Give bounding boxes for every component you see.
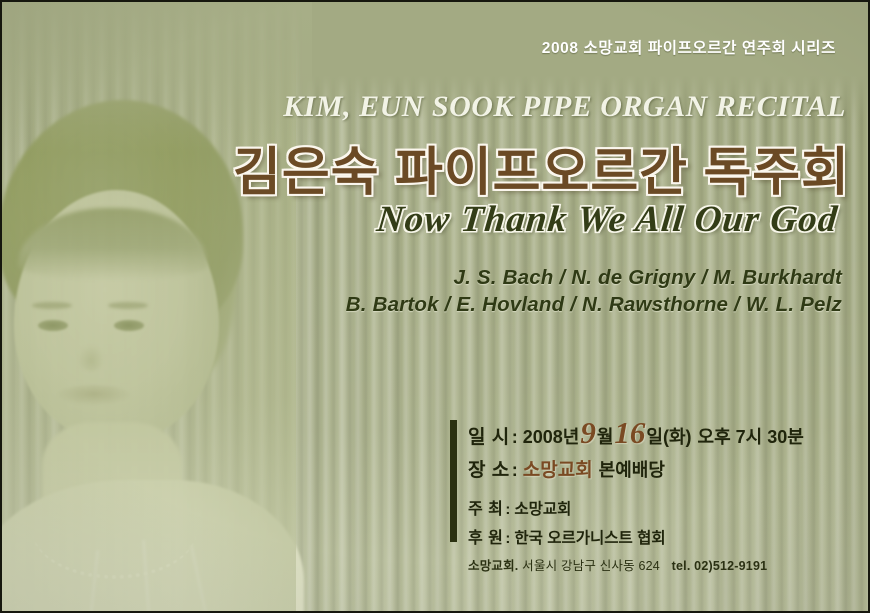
footer-org: 소망교회. bbox=[468, 559, 518, 573]
venue-separator: : bbox=[510, 460, 523, 481]
sponsor-separator: : bbox=[503, 530, 514, 547]
detail-row-venue: 장 소 : 소망교회 본예배당 bbox=[454, 455, 854, 495]
footer-address: 서울시 강남구 신사동 624 bbox=[522, 559, 660, 573]
detail-row-sponsor: 후 원 : 한국 오르가니스트 협회 bbox=[454, 524, 854, 553]
venue-hall: 본예배당 bbox=[593, 456, 665, 482]
sponsor-label: 후 원 bbox=[454, 524, 503, 548]
composer-line-2: B. Bartok / E. Hovland / N. Rawsthorne /… bbox=[346, 291, 842, 318]
host-label: 주 최 bbox=[454, 495, 503, 519]
composer-line-1: J. S. Bach / N. de Grigny / M. Burkhardt bbox=[346, 264, 842, 291]
date-label: 일 시 bbox=[454, 422, 510, 449]
event-details: 일 시 : 2008년 9 월 16 일(화) 오후 7시 30분 장 소 : … bbox=[454, 415, 854, 553]
host-separator: : bbox=[503, 501, 514, 518]
detail-row-date: 일 시 : 2008년 9 월 16 일(화) 오후 7시 30분 bbox=[454, 415, 854, 455]
korean-title: 김은숙 파이프오르간 독주회 bbox=[233, 130, 850, 205]
sponsor-value: 한국 오르가니스트 협회 bbox=[514, 526, 665, 548]
venue-label: 장 소 bbox=[454, 455, 510, 482]
footer-contact: 소망교회. 서울시 강남구 신사동 624 tel. 02)512-9191 bbox=[468, 555, 767, 574]
english-title: KIM, EUN SOOK PIPE ORGAN RECITAL bbox=[283, 90, 846, 124]
poster-content: 2008 소망교회 파이프오르간 연주회 시리즈 KIM, EUN SOOK P… bbox=[2, 2, 868, 611]
date-separator: : bbox=[510, 427, 523, 448]
composer-list: J. S. Bach / N. de Grigny / M. Burkhardt… bbox=[346, 264, 842, 318]
date-year: 2008년 bbox=[523, 423, 580, 449]
footer-tel: tel. 02)512-9191 bbox=[664, 559, 768, 573]
date-day-number: 16 bbox=[613, 415, 646, 451]
series-line: 2008 소망교회 파이프오르간 연주회 시리즈 bbox=[542, 36, 836, 58]
date-month-unit: 월 bbox=[597, 423, 614, 449]
hymn-title: Now Thank We All Our God bbox=[375, 198, 840, 241]
date-day-unit: 일(화) bbox=[646, 423, 691, 449]
date-month-number: 9 bbox=[579, 415, 597, 451]
date-time: 오후 7시 30분 bbox=[692, 423, 804, 449]
venue-place: 소망교회 bbox=[523, 455, 593, 482]
host-value: 소망교회 bbox=[514, 497, 571, 519]
concert-poster: 2008 소망교회 파이프오르간 연주회 시리즈 KIM, EUN SOOK P… bbox=[0, 0, 870, 613]
detail-row-host: 주 최 : 소망교회 bbox=[454, 495, 854, 524]
